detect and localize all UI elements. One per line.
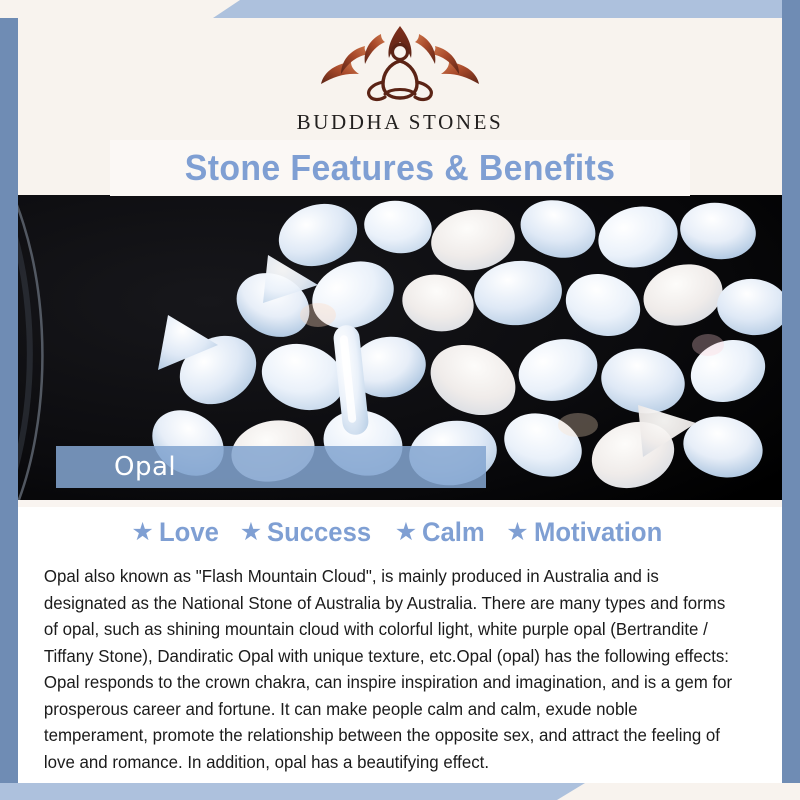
benefit-label: Success <box>267 517 371 548</box>
benefit-item: ★ Love <box>131 517 221 548</box>
stone-name: Opal <box>114 452 176 482</box>
star-icon: ★ <box>240 520 262 545</box>
stone-description: Opal also known as "Flash Mountain Cloud… <box>40 563 738 775</box>
content-divider <box>18 500 782 507</box>
decoration-bottom-left-bar <box>0 783 585 800</box>
infographic-page: BUDDHA STONES Stone Features & Benefits <box>0 0 800 800</box>
page-title: Stone Features & Benefits <box>185 147 616 189</box>
star-icon: ★ <box>395 520 417 545</box>
benefit-label: Calm <box>422 517 485 548</box>
star-icon: ★ <box>131 520 153 545</box>
lotus-meditation-figure-icon <box>315 22 485 108</box>
benefits-row: ★ Love ★ Success ★ Calm ★ Motivation <box>40 517 760 548</box>
benefit-label: Love <box>159 517 219 548</box>
decoration-right-band <box>782 0 800 783</box>
benefit-item: ★ Calm <box>395 517 488 548</box>
brand-logo: BUDDHA STONES <box>297 22 504 135</box>
benefit-item: ★ Success <box>240 517 377 548</box>
benefit-label: Motivation <box>534 517 662 548</box>
stone-name-banner: Opal <box>56 446 486 488</box>
stone-photo: Opal <box>18 195 782 500</box>
star-icon: ★ <box>506 520 528 545</box>
benefit-item: ★ Motivation <box>506 517 668 548</box>
title-band: Stone Features & Benefits <box>110 140 690 196</box>
content-panel: ★ Love ★ Success ★ Calm ★ Motivation Opa… <box>18 500 782 783</box>
decoration-top-right-bar <box>213 0 800 18</box>
decoration-left-band <box>0 18 18 783</box>
brand-name: BUDDHA STONES <box>297 110 504 135</box>
